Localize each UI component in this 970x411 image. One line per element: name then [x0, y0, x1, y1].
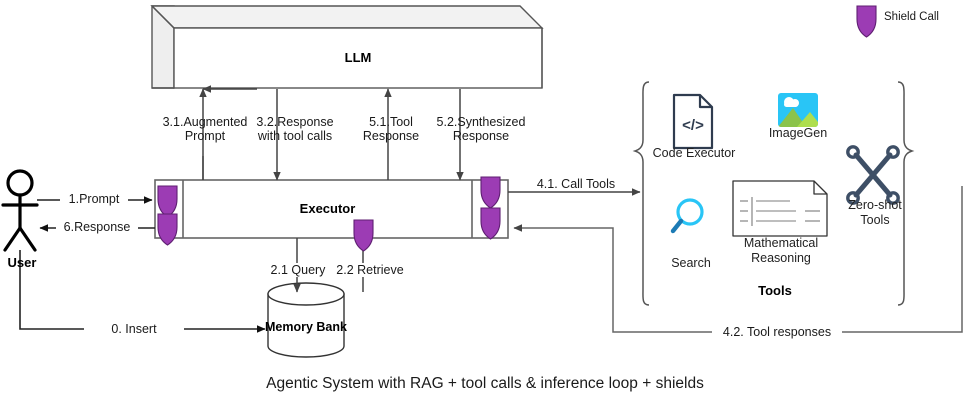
- edge-label-response-with-tool-calls: 3.2.Response with tool calls: [233, 115, 357, 143]
- edge-label-query: 2.1 Query: [265, 263, 331, 277]
- edge-label-synthesized-response: 5.2.Synthesized Response: [420, 115, 542, 143]
- edge-label-tool-responses: 4.2. Tool responses: [712, 325, 842, 339]
- llm-node: [152, 6, 542, 88]
- diagram-canvas: </>: [0, 0, 970, 411]
- legend-shield-call-label: Shield Call: [884, 11, 939, 23]
- tools-group-label: Tools: [700, 283, 850, 298]
- shield-icon-executor-memory: [354, 220, 373, 251]
- user-actor: [3, 171, 37, 250]
- crossed-wrenches-icon: [848, 147, 898, 203]
- tool-label-image-gen: ImageGen: [760, 126, 836, 141]
- user-label: User: [0, 255, 44, 270]
- executor-label: Executor: [183, 201, 472, 216]
- svg-text:</>: </>: [682, 117, 704, 134]
- diagram-caption: Agentic System with RAG + tool calls & i…: [0, 375, 970, 393]
- tool-label-search: Search: [658, 256, 724, 271]
- math-document-icon: [733, 181, 827, 236]
- magnifier-icon: [673, 200, 702, 231]
- code-document-icon: </>: [674, 95, 712, 148]
- edge-label-response: 6.Response: [56, 220, 138, 234]
- memory-bank-label: Memory Bank: [260, 320, 352, 334]
- tool-label-code-executor: Code Executor: [648, 146, 740, 161]
- edge-label-call-tools: 4.1. Call Tools: [530, 177, 622, 191]
- llm-label: LLM: [174, 50, 542, 65]
- edge-label-insert: 0. Insert: [84, 322, 184, 336]
- image-picture-icon: [778, 93, 822, 127]
- shield-icon-legend: [857, 6, 876, 37]
- insert-edge: [20, 250, 265, 329]
- edge-label-retrieve: 2.2 Retrieve: [333, 263, 407, 277]
- edge-label-prompt: 1.Prompt: [60, 192, 128, 206]
- tool-label-mathematical-reasoning: Mathematical Reasoning: [735, 236, 827, 266]
- shield-icon-executor-out-left: [158, 214, 177, 245]
- tool-label-zero-shot-tools: Zero-shot Tools: [838, 198, 912, 228]
